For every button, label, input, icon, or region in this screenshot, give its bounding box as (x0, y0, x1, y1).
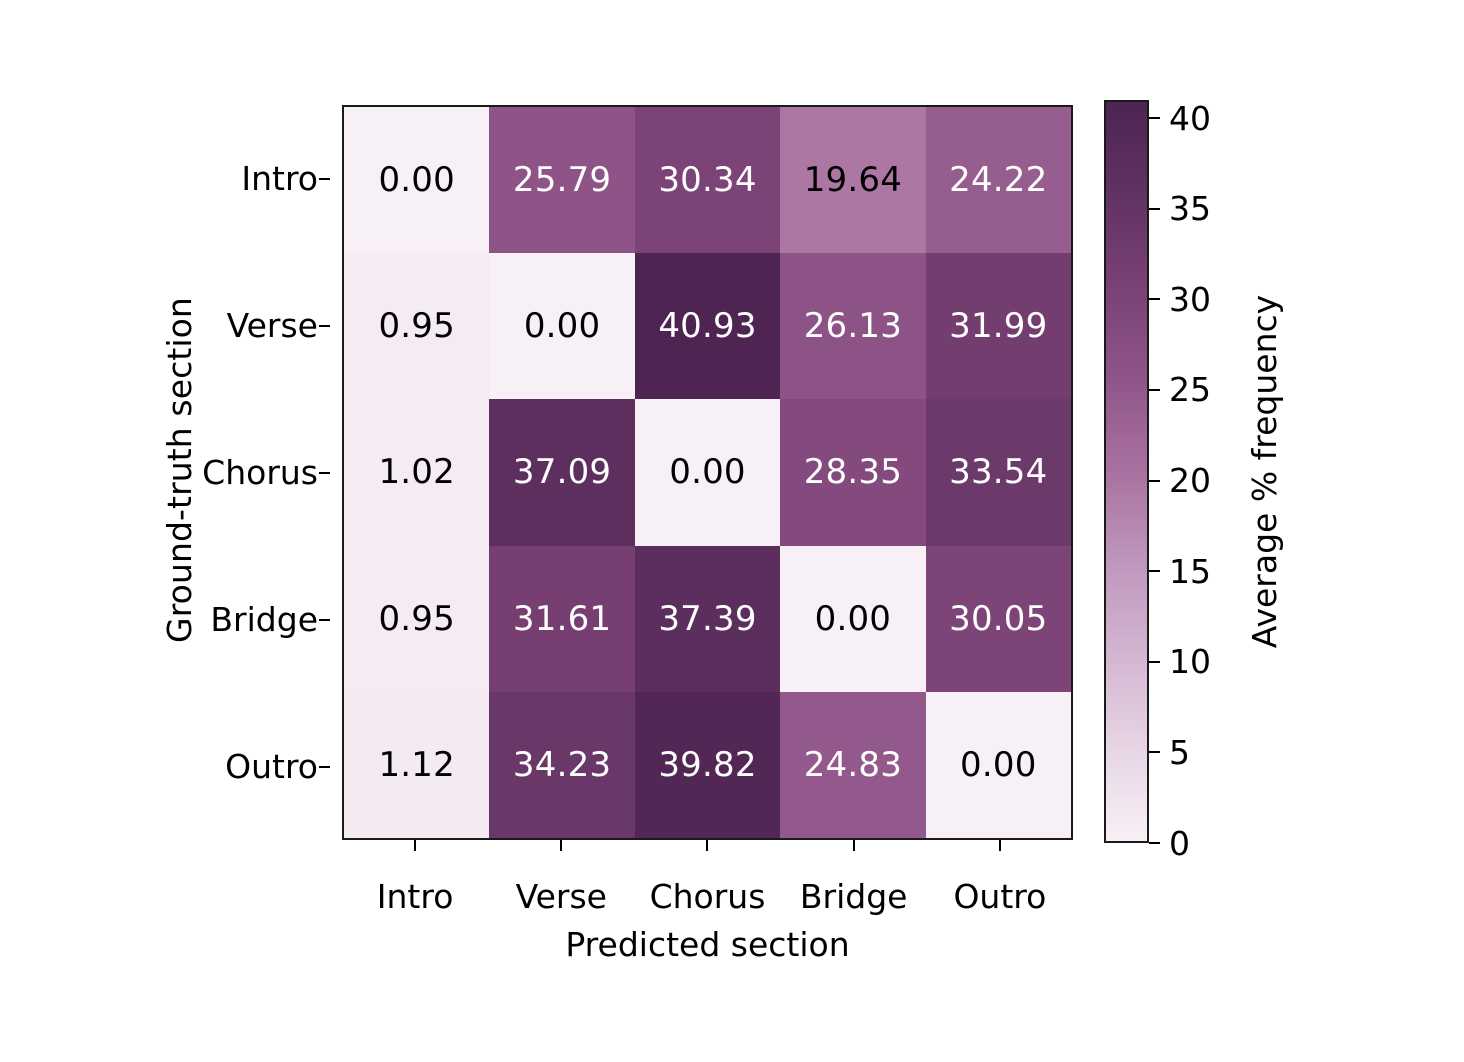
y-tick-mark-icon (319, 619, 330, 621)
colorbar-tick-label: 35 (1169, 192, 1211, 225)
heatmap-cell: 24.22 (926, 107, 1071, 253)
colorbar-tick-label: 40 (1169, 102, 1211, 135)
colorbar-tick-label: 10 (1169, 645, 1211, 678)
colorbar-tick-mark-icon (1149, 661, 1160, 663)
colorbar-tick-mark-icon (1149, 842, 1160, 844)
heatmap-cell: 30.34 (635, 107, 780, 253)
y-tick-chorus: Chorus (150, 399, 330, 546)
heatmap-cell: 31.99 (926, 253, 1071, 399)
heatmap-cell: 0.00 (780, 546, 925, 692)
y-tick-mark-icon (319, 472, 330, 474)
y-tick-verse: Verse (150, 252, 330, 399)
y-tick-label: Intro (241, 159, 330, 198)
colorbar-tick-mark-icon (1149, 480, 1160, 482)
x-tick-chorus: Chorus (634, 840, 780, 920)
colorbar-tick-mark-icon (1149, 751, 1160, 753)
x-tick-outro: Outro (927, 840, 1073, 920)
x-tick-verse: Verse (488, 840, 634, 920)
x-tick-intro: Intro (342, 840, 488, 920)
heatmap-cell: 40.93 (635, 253, 780, 399)
y-tick-bridge: Bridge (150, 546, 330, 693)
y-tick-outro: Outro (150, 693, 330, 840)
heatmap-cell: 0.95 (344, 546, 489, 692)
x-tick-mark-icon (414, 840, 416, 851)
heatmap-cell: 0.00 (344, 107, 489, 253)
colorbar-tick-label: 25 (1169, 373, 1211, 406)
x-tick-mark-icon (999, 840, 1001, 851)
y-tick-mark-icon (319, 766, 330, 768)
heatmap-cell: 1.02 (344, 399, 489, 545)
heatmap-cell: 30.05 (926, 546, 1071, 692)
colorbar-tick-mark-icon (1149, 208, 1160, 210)
y-tick-intro: Intro (150, 105, 330, 252)
heatmap-cell: 0.00 (926, 692, 1071, 838)
y-tick-label: Outro (225, 747, 330, 786)
y-tick-label: Verse (227, 306, 330, 345)
heatmap-cell: 31.61 (489, 546, 634, 692)
colorbar-tick-mark-icon (1149, 298, 1160, 300)
x-axis-title: Predicted section (342, 925, 1073, 964)
x-tick-label: Verse (516, 877, 607, 920)
heatmap-cell: 37.09 (489, 399, 634, 545)
heatmap-cell: 19.64 (780, 107, 925, 253)
colorbar-tick-mark-icon (1149, 570, 1160, 572)
heatmap-cell: 0.00 (635, 399, 780, 545)
colorbar-tick-label: 0 (1169, 827, 1190, 860)
colorbar-tick-mark-icon (1149, 117, 1160, 119)
x-tick-label: Chorus (650, 877, 766, 920)
heatmap-cell: 39.82 (635, 692, 780, 838)
y-tick-label: Chorus (202, 453, 330, 492)
x-tick-mark-icon (853, 840, 855, 851)
heatmap-cell: 34.23 (489, 692, 634, 838)
heatmap-cell: 1.12 (344, 692, 489, 838)
x-tick-mark-icon (706, 840, 708, 851)
heatmap-cell: 0.00 (489, 253, 634, 399)
heatmap-cell: 24.83 (780, 692, 925, 838)
heatmap-cell: 37.39 (635, 546, 780, 692)
x-tick-mark-icon (560, 840, 562, 851)
heatmap-cell: 0.95 (344, 253, 489, 399)
x-tick-bridge: Bridge (781, 840, 927, 920)
heatmap-grid: 0.0025.7930.3419.6424.220.950.0040.9326.… (342, 105, 1073, 840)
heatmap-cell: 26.13 (780, 253, 925, 399)
y-tick-mark-icon (319, 178, 330, 180)
y-axis-ticks: IntroVerseChorusBridgeOutro (150, 105, 330, 840)
confusion-matrix-figure: Ground-truth section IntroVerseChorusBri… (0, 0, 1464, 1062)
colorbar-tick-label: 30 (1169, 283, 1211, 316)
colorbar-tick-label: 5 (1169, 736, 1190, 769)
colorbar-tick-mark-icon (1149, 389, 1160, 391)
x-tick-label: Bridge (800, 877, 908, 920)
x-tick-label: Intro (377, 877, 454, 920)
y-tick-label: Bridge (210, 600, 330, 639)
colorbar-gradient (1104, 100, 1149, 843)
y-tick-mark-icon (319, 325, 330, 327)
colorbar-label: Average % frequency (1245, 100, 1284, 843)
x-tick-label: Outro (953, 877, 1046, 920)
heatmap-cell: 28.35 (780, 399, 925, 545)
x-axis-ticks: IntroVerseChorusBridgeOutro (342, 840, 1073, 920)
heatmap-cell: 33.54 (926, 399, 1071, 545)
heatmap-cell: 25.79 (489, 107, 634, 253)
colorbar-tick-label: 15 (1169, 555, 1211, 588)
colorbar-tick-label: 20 (1169, 464, 1211, 497)
